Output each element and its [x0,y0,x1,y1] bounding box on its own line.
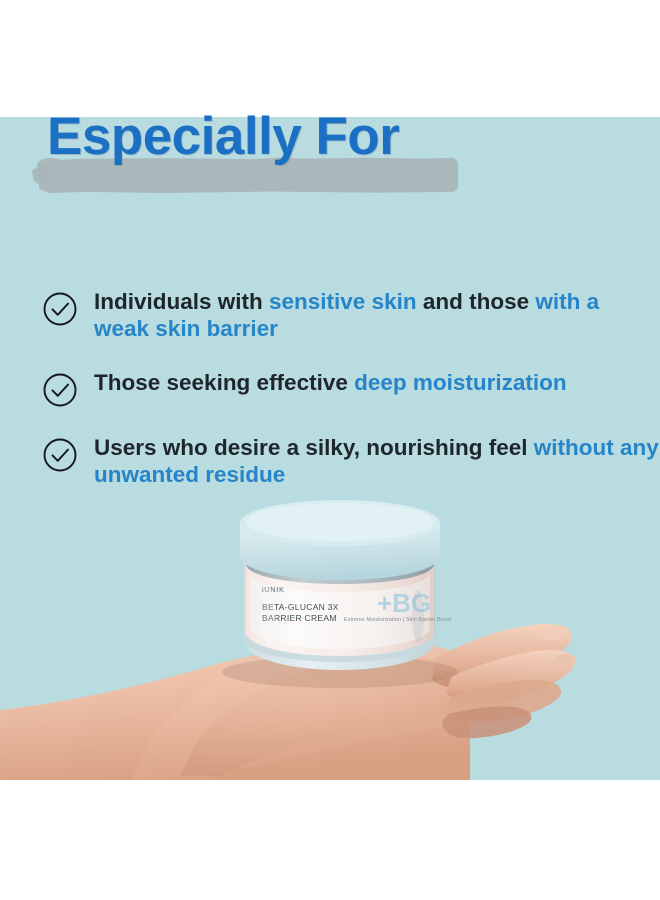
text-segment-accent: sensitive skin [269,289,417,314]
check-circle-icon [42,372,78,408]
text-segment: and those [417,289,536,314]
text-segment: Individuals with [94,289,269,314]
product-feature-poster: Especially For Individuals with sensitiv… [0,0,660,900]
heading-section: Especially For [0,60,660,180]
list-item-text: Those seeking effective deep moisturizat… [94,369,567,396]
jar-lid-top-inner [246,503,434,541]
list-item: Users who desire a silky, nourishing fee… [0,434,660,489]
product-photo: iUNIK BETA-GLUCAN 3X BARRIER CREAM Extre… [0,500,660,780]
text-segment: Users who desire a silky, nourishing fee… [94,435,534,460]
jar-shade [412,590,424,642]
check-circle-icon [42,291,78,327]
list-item-text: Individuals with sensitive skin and thos… [94,288,659,343]
text-segment: Those seeking effective [94,370,354,395]
benefit-list: Individuals with sensitive skin and thos… [0,288,660,515]
check-circle-icon [42,437,78,473]
page-title: Especially For [47,110,399,163]
text-segment-accent: deep moisturization [354,370,567,395]
jar-highlight [260,588,276,648]
list-item: Individuals with sensitive skin and thos… [0,288,660,343]
list-item-text: Users who desire a silky, nourishing fee… [94,434,659,489]
list-item: Those seeking effective deep moisturizat… [0,369,660,408]
